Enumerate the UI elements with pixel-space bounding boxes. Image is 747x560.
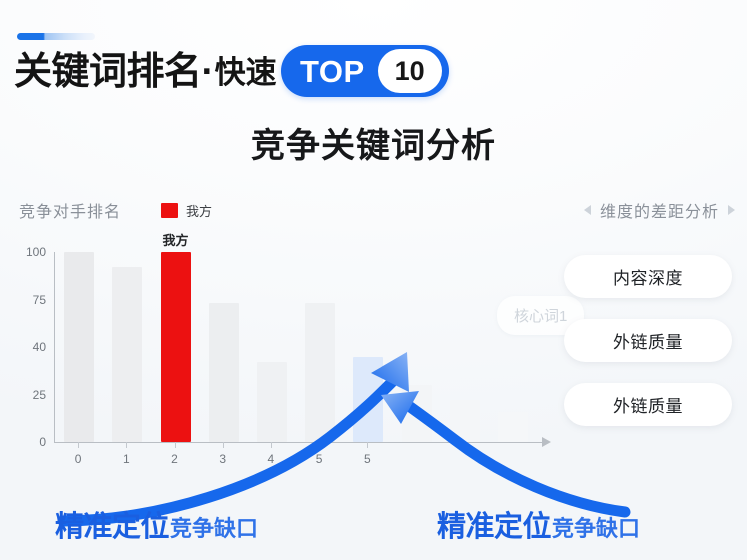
- bar: [402, 385, 432, 442]
- caption-right: 精准定位 竞争缺口: [437, 503, 640, 545]
- x-tick-label: 0: [75, 452, 82, 466]
- x-tick: [78, 442, 79, 448]
- y-tick-label: 75: [33, 293, 46, 307]
- bar: [353, 357, 383, 443]
- x-tick: [223, 442, 224, 448]
- bar: [209, 303, 239, 442]
- y-tick-label: 100: [26, 245, 46, 259]
- x-tick-label: 2: [171, 452, 178, 466]
- x-tick: [175, 442, 176, 448]
- dimension-pill[interactable]: 外链质量: [564, 319, 732, 362]
- dimension-pill[interactable]: 内容深度: [564, 255, 732, 298]
- dimension-pill-label: 外链质量: [613, 392, 683, 417]
- bar-highlighted: [161, 252, 191, 442]
- bar-series: 我方: [55, 252, 536, 442]
- chart-axis-title: 竞争对手排名: [19, 198, 121, 222]
- legend-color-swatch: [161, 203, 178, 218]
- x-tick: [367, 442, 368, 448]
- caption-left: 精准定位 竞争缺口: [55, 503, 258, 545]
- triangle-left-icon: [584, 205, 591, 215]
- x-tick: [126, 442, 127, 448]
- badge-top-label: TOP: [300, 56, 378, 87]
- chart-legend: 竞争对手排名 我方: [19, 198, 212, 222]
- accent-progress-bar: [17, 33, 95, 40]
- headline-row: 关键词排名· 快速: [14, 44, 277, 100]
- x-axis-arrow-icon: [542, 437, 551, 447]
- triangle-right-icon: [728, 205, 735, 215]
- bar: [450, 400, 480, 442]
- x-tick-label: 3: [219, 452, 226, 466]
- bar: [257, 362, 287, 442]
- x-tick-label: 5: [316, 452, 323, 466]
- bar: [498, 412, 528, 442]
- x-axis-line: [54, 442, 544, 443]
- dimension-panel-header: 维度的差距分析: [584, 198, 735, 222]
- x-tick-label: 1: [123, 452, 130, 466]
- caption-left-light: 竞争缺口: [170, 511, 258, 543]
- bar-chart: 1007540250 我方 0123455: [16, 252, 536, 462]
- bar: [305, 303, 335, 442]
- badge-count-value: 10: [395, 58, 425, 85]
- headline-main-text: 关键词排名·: [14, 53, 214, 91]
- highlight-bar-label: 我方: [162, 230, 188, 249]
- x-tick: [271, 442, 272, 448]
- y-tick-label: 0: [39, 435, 46, 449]
- legend-series-label: 我方: [186, 201, 212, 220]
- dimension-pill-list: 内容深度外链质量外链质量: [564, 255, 732, 426]
- dimension-panel-title: 维度的差距分析: [600, 198, 719, 222]
- caption-right-light: 竞争缺口: [552, 511, 640, 543]
- dimension-pill-label: 外链质量: [613, 328, 683, 353]
- caption-right-strong: 精准定位: [437, 503, 551, 545]
- y-tick-label: 40: [33, 340, 46, 354]
- headline-sub-text: 快速: [215, 57, 277, 88]
- bar: [64, 252, 94, 442]
- dimension-pill[interactable]: 外链质量: [564, 383, 732, 426]
- dimension-pill-label: 内容深度: [613, 264, 683, 289]
- x-tick-label: 5: [364, 452, 371, 466]
- chart-plot-area: 我方: [54, 252, 536, 442]
- bar: [112, 267, 142, 442]
- x-tick-label: 4: [268, 452, 275, 466]
- y-tick-label: 25: [33, 388, 46, 402]
- caption-left-strong: 精准定位: [55, 503, 169, 545]
- top-rank-badge: TOP 10: [281, 45, 449, 97]
- page-title: 竞争关键词分析: [0, 118, 747, 167]
- legend-series-item: 我方: [161, 201, 212, 220]
- badge-count-circle: 10: [378, 49, 442, 93]
- x-tick: [319, 442, 320, 448]
- poster-canvas: 关键词排名· 快速 TOP 10 竞争关键词分析 竞争对手排名 我方 维度的差距…: [0, 0, 747, 560]
- y-axis: 1007540250: [16, 252, 46, 442]
